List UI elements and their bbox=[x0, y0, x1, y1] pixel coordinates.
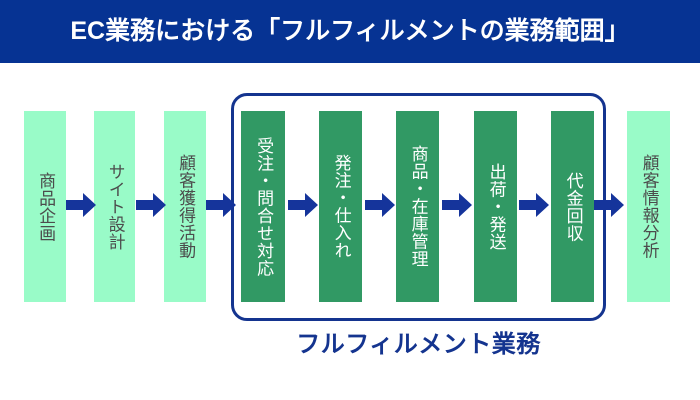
process-box-label: 顧客情報分析 bbox=[639, 154, 657, 259]
process-box-label: 商品・在庫管理 bbox=[408, 145, 426, 268]
process-box-label: 出荷・発送 bbox=[486, 163, 504, 251]
process-box-site-design[interactable]: サイト設計 bbox=[94, 111, 135, 302]
process-flow-diagram: 商品企画 サイト設計 顧客獲得活動 受注・問合せ対応 発注・仕入れ 商品・在庫管… bbox=[0, 63, 700, 400]
process-box-label: 商品企画 bbox=[36, 172, 54, 242]
process-box-payment-collection[interactable]: 代金回収 bbox=[551, 111, 594, 302]
process-box-label: 発注・仕入れ bbox=[331, 154, 349, 259]
fulfillment-scope-caption: フルフィルメント業務 bbox=[231, 324, 606, 359]
flow-arrow-right-icon bbox=[288, 190, 318, 220]
process-box-label: 代金回収 bbox=[563, 172, 581, 242]
flow-arrow-right-icon bbox=[442, 190, 472, 220]
flow-arrow-right-icon bbox=[136, 190, 166, 220]
flow-arrow-right-icon bbox=[519, 190, 549, 220]
title-bar: EC業務における「フルフィルメントの業務範囲」 bbox=[0, 0, 700, 63]
flow-arrow-right-icon bbox=[365, 190, 395, 220]
flow-arrow-right-icon bbox=[594, 190, 624, 220]
process-box-shipping-delivery[interactable]: 出荷・発送 bbox=[474, 111, 517, 302]
process-box-label: 受注・問合せ対応 bbox=[254, 137, 272, 277]
process-box-product-inventory-management[interactable]: 商品・在庫管理 bbox=[396, 111, 439, 302]
flow-arrow-right-icon bbox=[206, 190, 236, 220]
flow-arrow-right-icon bbox=[66, 190, 96, 220]
process-box-label: 顧客獲得活動 bbox=[176, 154, 194, 259]
process-box-customer-acquisition[interactable]: 顧客獲得活動 bbox=[164, 111, 206, 302]
process-box-label: サイト設計 bbox=[105, 163, 123, 251]
process-box-product-planning[interactable]: 商品企画 bbox=[24, 111, 66, 302]
process-box-order-inquiry-handling[interactable]: 受注・問合せ対応 bbox=[241, 111, 285, 302]
process-box-ordering-purchasing[interactable]: 発注・仕入れ bbox=[319, 111, 362, 302]
page-title: EC業務における「フルフィルメントの業務範囲」 bbox=[70, 19, 629, 44]
process-box-customer-data-analysis[interactable]: 顧客情報分析 bbox=[627, 111, 670, 302]
